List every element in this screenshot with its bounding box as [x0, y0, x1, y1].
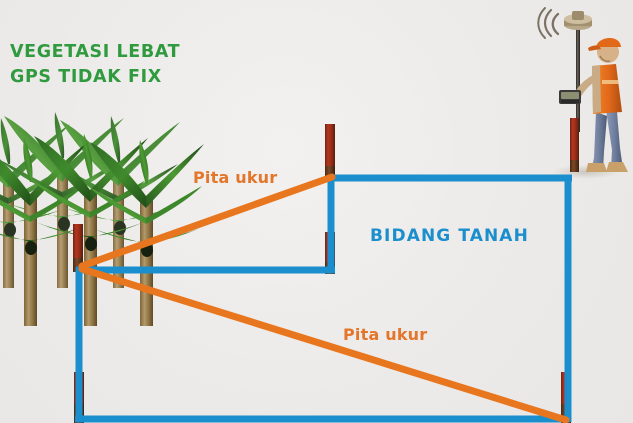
data-collector-icon	[559, 90, 581, 104]
stake-top-middle	[325, 124, 335, 178]
gps-surveyor-icon	[538, 8, 628, 179]
gps-antenna-icon	[564, 11, 592, 30]
parcel-label: BIDANG TANAH	[370, 226, 529, 246]
diagram-canvas: VEGETASI LEBAT GPS TIDAK FIX Pita ukur P…	[0, 0, 633, 423]
tape-label-top: Pita ukur	[193, 168, 277, 187]
vegetation-warning-line1: VEGETASI LEBAT	[10, 40, 180, 65]
radio-waves-icon	[538, 8, 558, 38]
tape-label-bottom: Pita ukur	[343, 325, 427, 344]
boundary-stake-icon	[570, 118, 579, 172]
vegetation-warning-line2: GPS TIDAK FIX	[10, 65, 162, 90]
tape-lower-line	[82, 269, 566, 420]
rover-pole	[576, 28, 580, 132]
